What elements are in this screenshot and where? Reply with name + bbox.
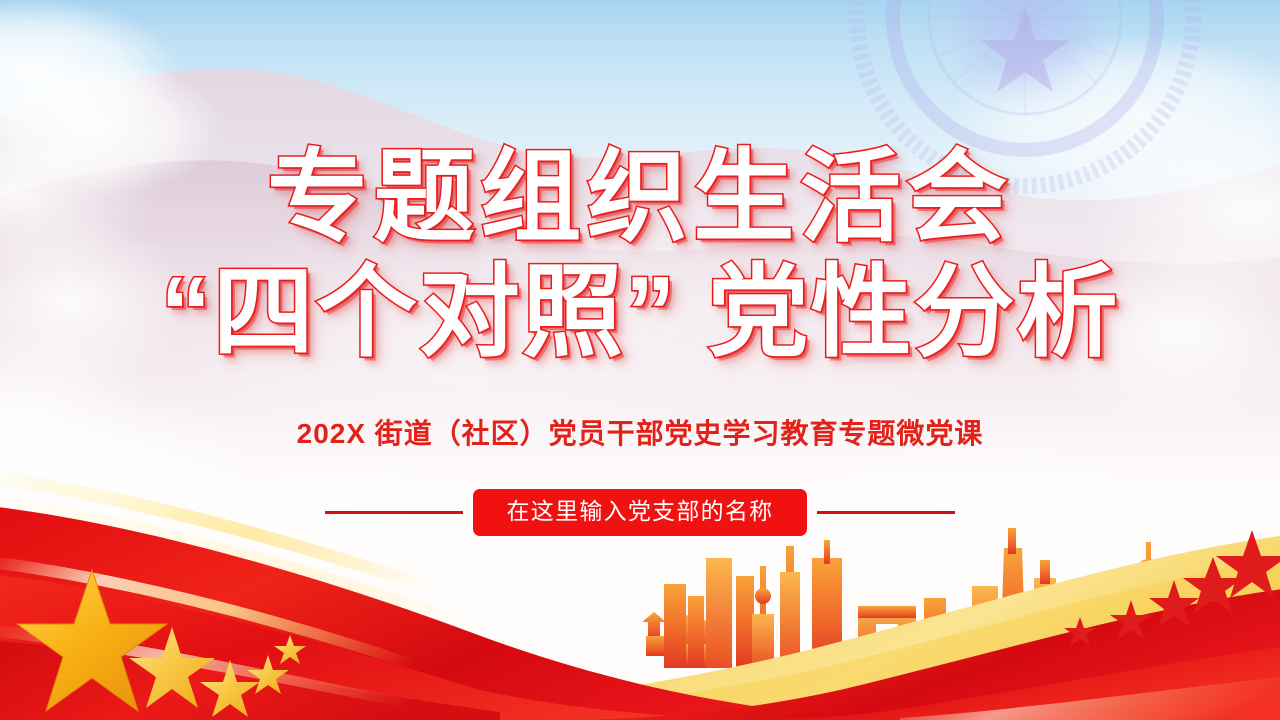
slide-content: 专题组织生活会 “四个对照” 党性分析 202X 街道（社区）党员干部党史学习教… <box>0 0 1280 720</box>
divider-left <box>325 511 463 514</box>
branch-name-row: 在这里输入党支部的名称 <box>0 486 1280 538</box>
course-description: 202X 街道（社区）党员干部党史学习教育专题微党课 <box>0 412 1280 452</box>
page-title: 专题组织生活会 <box>0 143 1280 253</box>
divider-right <box>817 511 955 514</box>
presentation-slide: 专题组织生活会 “四个对照” 党性分析 202X 街道（社区）党员干部党史学习教… <box>0 0 1280 720</box>
branch-name-field[interactable]: 在这里输入党支部的名称 <box>473 489 808 536</box>
page-subtitle-heading: “四个对照” 党性分析 <box>0 258 1280 368</box>
